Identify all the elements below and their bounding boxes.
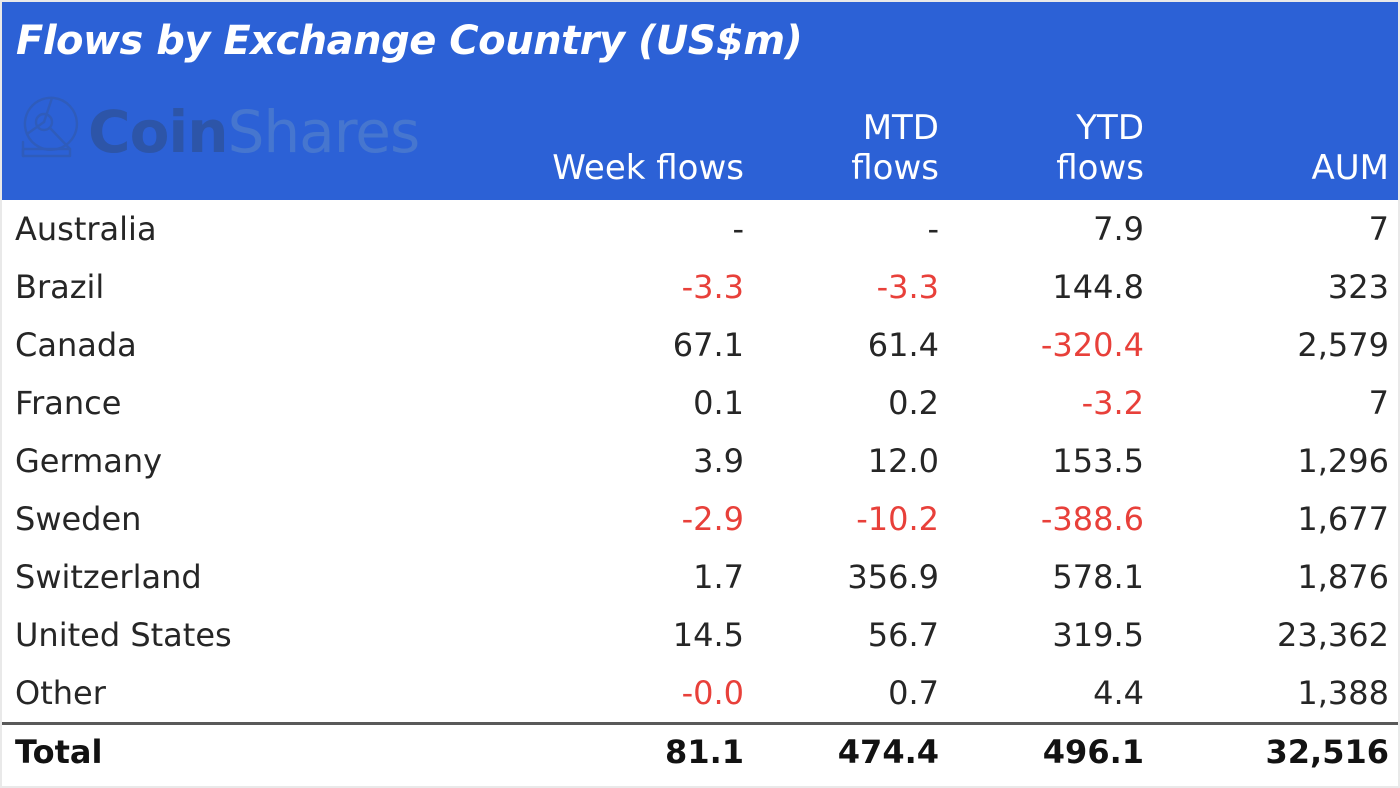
cell-mtd-flows: 12.0 — [757, 442, 952, 480]
cell-total-ytd-flows: 496.1 — [952, 733, 1157, 771]
cell-week-flows: 14.5 — [497, 616, 757, 654]
cell-week-flows: -2.9 — [497, 500, 757, 538]
cell-aum: 323 — [1157, 268, 1400, 306]
cell-mtd-flows: -3.3 — [757, 268, 952, 306]
cell-total-mtd-flows: 474.4 — [757, 733, 952, 771]
table-row[interactable]: Germany 3.9 12.0 153.5 1,296 — [2, 432, 1398, 490]
cell-mtd-flows: - — [757, 210, 952, 248]
logo-text-shares: Shares — [228, 98, 420, 166]
cell-mtd-flows: 0.7 — [757, 674, 952, 712]
cell-ytd-flows: 4.4 — [952, 674, 1157, 712]
cell-aum: 2,579 — [1157, 326, 1400, 364]
flows-by-country-table: Flows by Exchange Country (US$m) CoinSha… — [0, 0, 1400, 788]
column-header-ytd-flows[interactable]: YTD flows — [952, 109, 1157, 200]
table-row-total: Total 81.1 474.4 496.1 32,516 — [2, 722, 1398, 778]
table-body: Australia - - 7.9 7 Brazil -3.3 -3.3 144… — [2, 200, 1398, 778]
cell-ytd-flows: -320.4 — [952, 326, 1157, 364]
column-header-week-flows[interactable]: Week flows — [497, 149, 757, 200]
cell-ytd-flows: -388.6 — [952, 500, 1157, 538]
cell-ytd-flows: 153.5 — [952, 442, 1157, 480]
cell-country: Switzerland — [2, 558, 497, 596]
cell-ytd-flows: 578.1 — [952, 558, 1157, 596]
table-row[interactable]: Other -0.0 0.7 4.4 1,388 — [2, 664, 1398, 722]
cell-country: Other — [2, 674, 497, 712]
cell-ytd-flows: 7.9 — [952, 210, 1157, 248]
table-row[interactable]: Sweden -2.9 -10.2 -388.6 1,677 — [2, 490, 1398, 548]
table-row[interactable]: Australia - - 7.9 7 — [2, 200, 1398, 258]
table-row[interactable]: Canada 67.1 61.4 -320.4 2,579 — [2, 316, 1398, 374]
cell-mtd-flows: 61.4 — [757, 326, 952, 364]
cell-week-flows: -3.3 — [497, 268, 757, 306]
cell-aum: 7 — [1157, 384, 1400, 422]
cell-ytd-flows: 319.5 — [952, 616, 1157, 654]
cell-total-label: Total — [2, 733, 497, 771]
table-row[interactable]: Switzerland 1.7 356.9 578.1 1,876 — [2, 548, 1398, 606]
cell-country: France — [2, 384, 497, 422]
cell-week-flows: 3.9 — [497, 442, 757, 480]
cell-week-flows: -0.0 — [497, 674, 757, 712]
cell-aum: 23,362 — [1157, 616, 1400, 654]
cell-week-flows: - — [497, 210, 757, 248]
cell-ytd-flows: 144.8 — [952, 268, 1157, 306]
logo-text-coin: Coin — [88, 98, 228, 166]
table-row[interactable]: Brazil -3.3 -3.3 144.8 323 — [2, 258, 1398, 316]
coinshares-radar-logo-icon — [14, 94, 80, 170]
cell-country: Canada — [2, 326, 497, 364]
cell-aum: 7 — [1157, 210, 1400, 248]
cell-mtd-flows: 0.2 — [757, 384, 952, 422]
cell-aum: 1,296 — [1157, 442, 1400, 480]
cell-total-aum: 32,516 — [1157, 733, 1400, 771]
cell-aum: 1,677 — [1157, 500, 1400, 538]
cell-country: Germany — [2, 442, 497, 480]
cell-country: Australia — [2, 210, 497, 248]
cell-mtd-flows: 356.9 — [757, 558, 952, 596]
cell-country: Brazil — [2, 268, 497, 306]
cell-week-flows: 67.1 — [497, 326, 757, 364]
column-header-mtd-flows[interactable]: MTD flows — [757, 109, 952, 200]
cell-week-flows: 1.7 — [497, 558, 757, 596]
table-row[interactable]: France 0.1 0.2 -3.2 7 — [2, 374, 1398, 432]
coinshares-logo-watermark: CoinShares — [14, 94, 419, 170]
cell-aum: 1,388 — [1157, 674, 1400, 712]
coinshares-wordmark: CoinShares — [88, 103, 419, 161]
column-header-aum[interactable]: AUM — [1157, 149, 1398, 200]
cell-mtd-flows: -10.2 — [757, 500, 952, 538]
cell-week-flows: 0.1 — [497, 384, 757, 422]
cell-total-week-flows: 81.1 — [497, 733, 757, 771]
page-title: Flows by Exchange Country (US$m) — [16, 18, 802, 64]
cell-ytd-flows: -3.2 — [952, 384, 1157, 422]
cell-country: Sweden — [2, 500, 497, 538]
cell-country: United States — [2, 616, 497, 654]
table-header: Flows by Exchange Country (US$m) CoinSha… — [2, 2, 1398, 200]
cell-mtd-flows: 56.7 — [757, 616, 952, 654]
cell-aum: 1,876 — [1157, 558, 1400, 596]
table-row[interactable]: United States 14.5 56.7 319.5 23,362 — [2, 606, 1398, 664]
